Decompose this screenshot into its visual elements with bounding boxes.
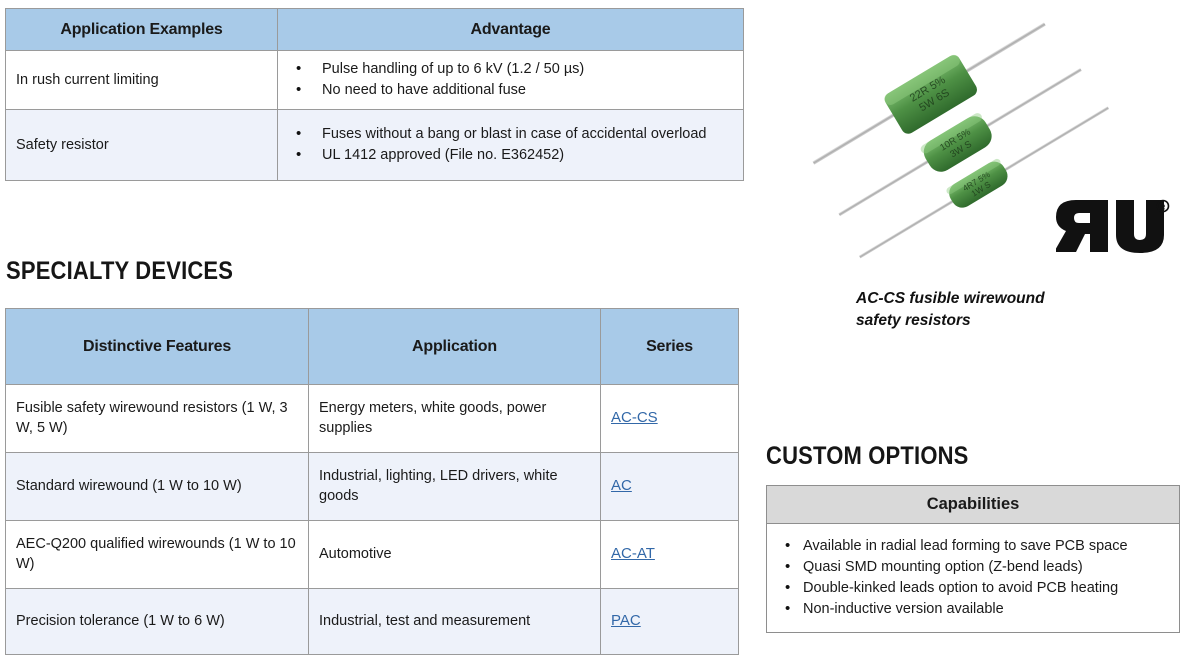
svg-text:R: R	[1160, 204, 1165, 211]
table-row: AEC-Q200 qualified wirewounds (1 W to 10…	[6, 521, 739, 589]
table-row: Precision tolerance (1 W to 6 W) Industr…	[6, 589, 739, 655]
cell-series: PAC	[601, 589, 739, 655]
page-root: Application Examples Advantage In rush c…	[0, 0, 1200, 655]
cell-application: Industrial, test and measurement	[309, 589, 601, 655]
cell-application: Automotive	[309, 521, 601, 589]
cell-advantage: Fuses without a bang or blast in case of…	[278, 110, 744, 181]
series-link-ac-at[interactable]: AC-AT	[611, 545, 655, 562]
capabilities-list: Available in radial lead forming to save…	[773, 538, 1173, 617]
specialty-devices-table: Distinctive Features Application Series …	[5, 308, 739, 655]
column-header-application: Application	[309, 309, 601, 385]
cell-application: Industrial, lighting, LED drivers, white…	[309, 453, 601, 521]
advantage-list: Fuses without a bang or blast in case of…	[288, 125, 733, 165]
advantages-header-row: Application Examples Advantage	[6, 9, 744, 51]
product-figure: 22R 5% 5W 6S 10R 5% 3W S 4R7 5% 1W S	[760, 0, 1200, 340]
cell-series: AC-CS	[601, 385, 739, 453]
specialty-header-row: Distinctive Features Application Series	[6, 309, 739, 385]
capabilities-table: Capabilities Available in radial lead fo…	[766, 485, 1180, 633]
column-header-application-examples: Application Examples	[6, 9, 278, 51]
cell-application-example: Safety resistor	[6, 110, 278, 181]
list-item: Pulse handling of up to 6 kV (1.2 / 50 µ…	[288, 60, 733, 79]
specialty-devices-heading: SPECIALTY DEVICES	[6, 257, 233, 286]
series-link-ac-cs[interactable]: AC-CS	[611, 409, 658, 426]
table-row: Safety resistor Fuses without a bang or …	[6, 110, 744, 181]
cell-distinctive-features: AEC-Q200 qualified wirewounds (1 W to 10…	[6, 521, 309, 589]
table-row: Available in radial lead forming to save…	[767, 524, 1180, 633]
series-link-pac[interactable]: PAC	[611, 612, 641, 629]
cell-distinctive-features: Fusible safety wirewound resistors (1 W,…	[6, 385, 309, 453]
cell-series: AC-AT	[601, 521, 739, 589]
table-row: In rush current limiting Pulse handling …	[6, 51, 744, 110]
list-item: Non-inductive version available	[773, 601, 1173, 617]
series-link-ac[interactable]: AC	[611, 477, 632, 494]
column-header-series: Series	[601, 309, 739, 385]
capabilities-header-row: Capabilities	[767, 486, 1180, 524]
column-header-capabilities: Capabilities	[767, 486, 1180, 524]
advantage-list: Pulse handling of up to 6 kV (1.2 / 50 µ…	[288, 60, 733, 100]
cell-advantage: Pulse handling of up to 6 kV (1.2 / 50 µ…	[278, 51, 744, 110]
cell-distinctive-features: Standard wirewound (1 W to 10 W)	[6, 453, 309, 521]
column-header-distinctive-features: Distinctive Features	[6, 309, 309, 385]
figure-caption-line-2: safety resistors	[856, 310, 1045, 332]
advantages-table: Application Examples Advantage In rush c…	[5, 8, 744, 181]
cell-application: Energy meters, white goods, power suppli…	[309, 385, 601, 453]
ul-recognized-component-mark-icon: R	[1056, 196, 1174, 258]
cell-capabilities: Available in radial lead forming to save…	[767, 524, 1180, 633]
cell-distinctive-features: Precision tolerance (1 W to 6 W)	[6, 589, 309, 655]
figure-caption: AC-CS fusible wirewound safety resistors	[856, 288, 1045, 333]
custom-options-heading: CUSTOM OPTIONS	[766, 442, 969, 471]
cell-application-example: In rush current limiting	[6, 51, 278, 110]
table-row: Fusible safety wirewound resistors (1 W,…	[6, 385, 739, 453]
table-row: Standard wirewound (1 W to 10 W) Industr…	[6, 453, 739, 521]
list-item: UL 1412 approved (File no. E362452)	[288, 146, 733, 165]
list-item: No need to have additional fuse	[288, 81, 733, 100]
list-item: Available in radial lead forming to save…	[773, 538, 1173, 554]
column-header-advantage: Advantage	[278, 9, 744, 51]
list-item: Fuses without a bang or blast in case of…	[288, 125, 733, 144]
figure-caption-line-1: AC-CS fusible wirewound	[856, 288, 1045, 310]
cell-series: AC	[601, 453, 739, 521]
list-item: Double-kinked leads option to avoid PCB …	[773, 580, 1173, 596]
list-item: Quasi SMD mounting option (Z-bend leads)	[773, 559, 1173, 575]
